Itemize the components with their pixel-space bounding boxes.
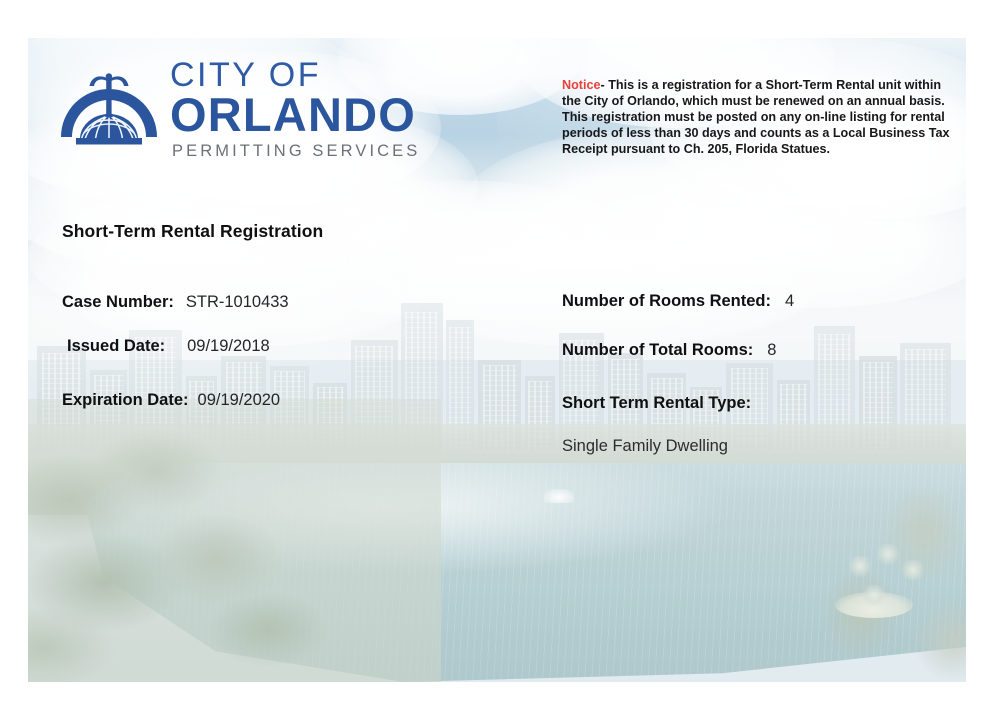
- field-expiration-date: Expiration Date: 09/19/2020: [62, 391, 280, 410]
- field-rental-type-label: Short Term Rental Type:: [562, 394, 751, 413]
- notice-body: - This is a registration for a Short-Ter…: [562, 78, 950, 156]
- logo-line-permitting-services: PERMITTING SERVICES: [170, 142, 420, 160]
- orlando-fountain-icon: [58, 65, 160, 153]
- field-value: 09/19/2018: [187, 337, 270, 356]
- logo-wordmark: CITY OF ORLANDO PERMITTING SERVICES: [170, 58, 420, 160]
- field-value: 8: [767, 341, 776, 360]
- palm-tree: [863, 585, 885, 607]
- lake-fountain: [544, 489, 574, 503]
- field-label: Expiration Date:: [62, 391, 189, 410]
- field-label: Number of Total Rooms:: [562, 341, 753, 360]
- field-value: 4: [785, 292, 794, 311]
- page-title: Short-Term Rental Registration: [62, 221, 323, 242]
- field-case-number: Case Number: STR-1010433: [62, 293, 289, 312]
- palm-tree: [849, 556, 871, 578]
- field-value: STR-1010433: [186, 293, 289, 312]
- field-total-rooms: Number of Total Rooms: 8: [562, 341, 776, 360]
- registration-certificate: CITY OF ORLANDO PERMITTING SERVICES Noti…: [0, 0, 1000, 726]
- field-rooms-rented: Number of Rooms Rented: 4: [562, 292, 794, 311]
- field-label: Short Term Rental Type:: [562, 394, 751, 413]
- notice-label: Notice: [562, 78, 601, 92]
- field-issued-date: Issued Date: 09/19/2018: [67, 337, 270, 356]
- palm-tree: [902, 560, 924, 582]
- palm-tree: [877, 544, 899, 566]
- field-value: 09/19/2020: [198, 391, 281, 410]
- field-label: Case Number:: [62, 293, 174, 312]
- city-of-orlando-logo: CITY OF ORLANDO PERMITTING SERVICES: [58, 58, 420, 160]
- notice-block: Notice- This is a registration for a Sho…: [562, 78, 950, 158]
- park-tree-canopy-left: [28, 399, 441, 682]
- logo-line-orlando: ORLANDO: [170, 91, 420, 138]
- field-label: Issued Date:: [67, 337, 165, 356]
- field-rental-type-value: Single Family Dwelling: [562, 437, 728, 456]
- park-tree-canopy-right: [778, 424, 966, 682]
- field-label: Number of Rooms Rented:: [562, 292, 771, 311]
